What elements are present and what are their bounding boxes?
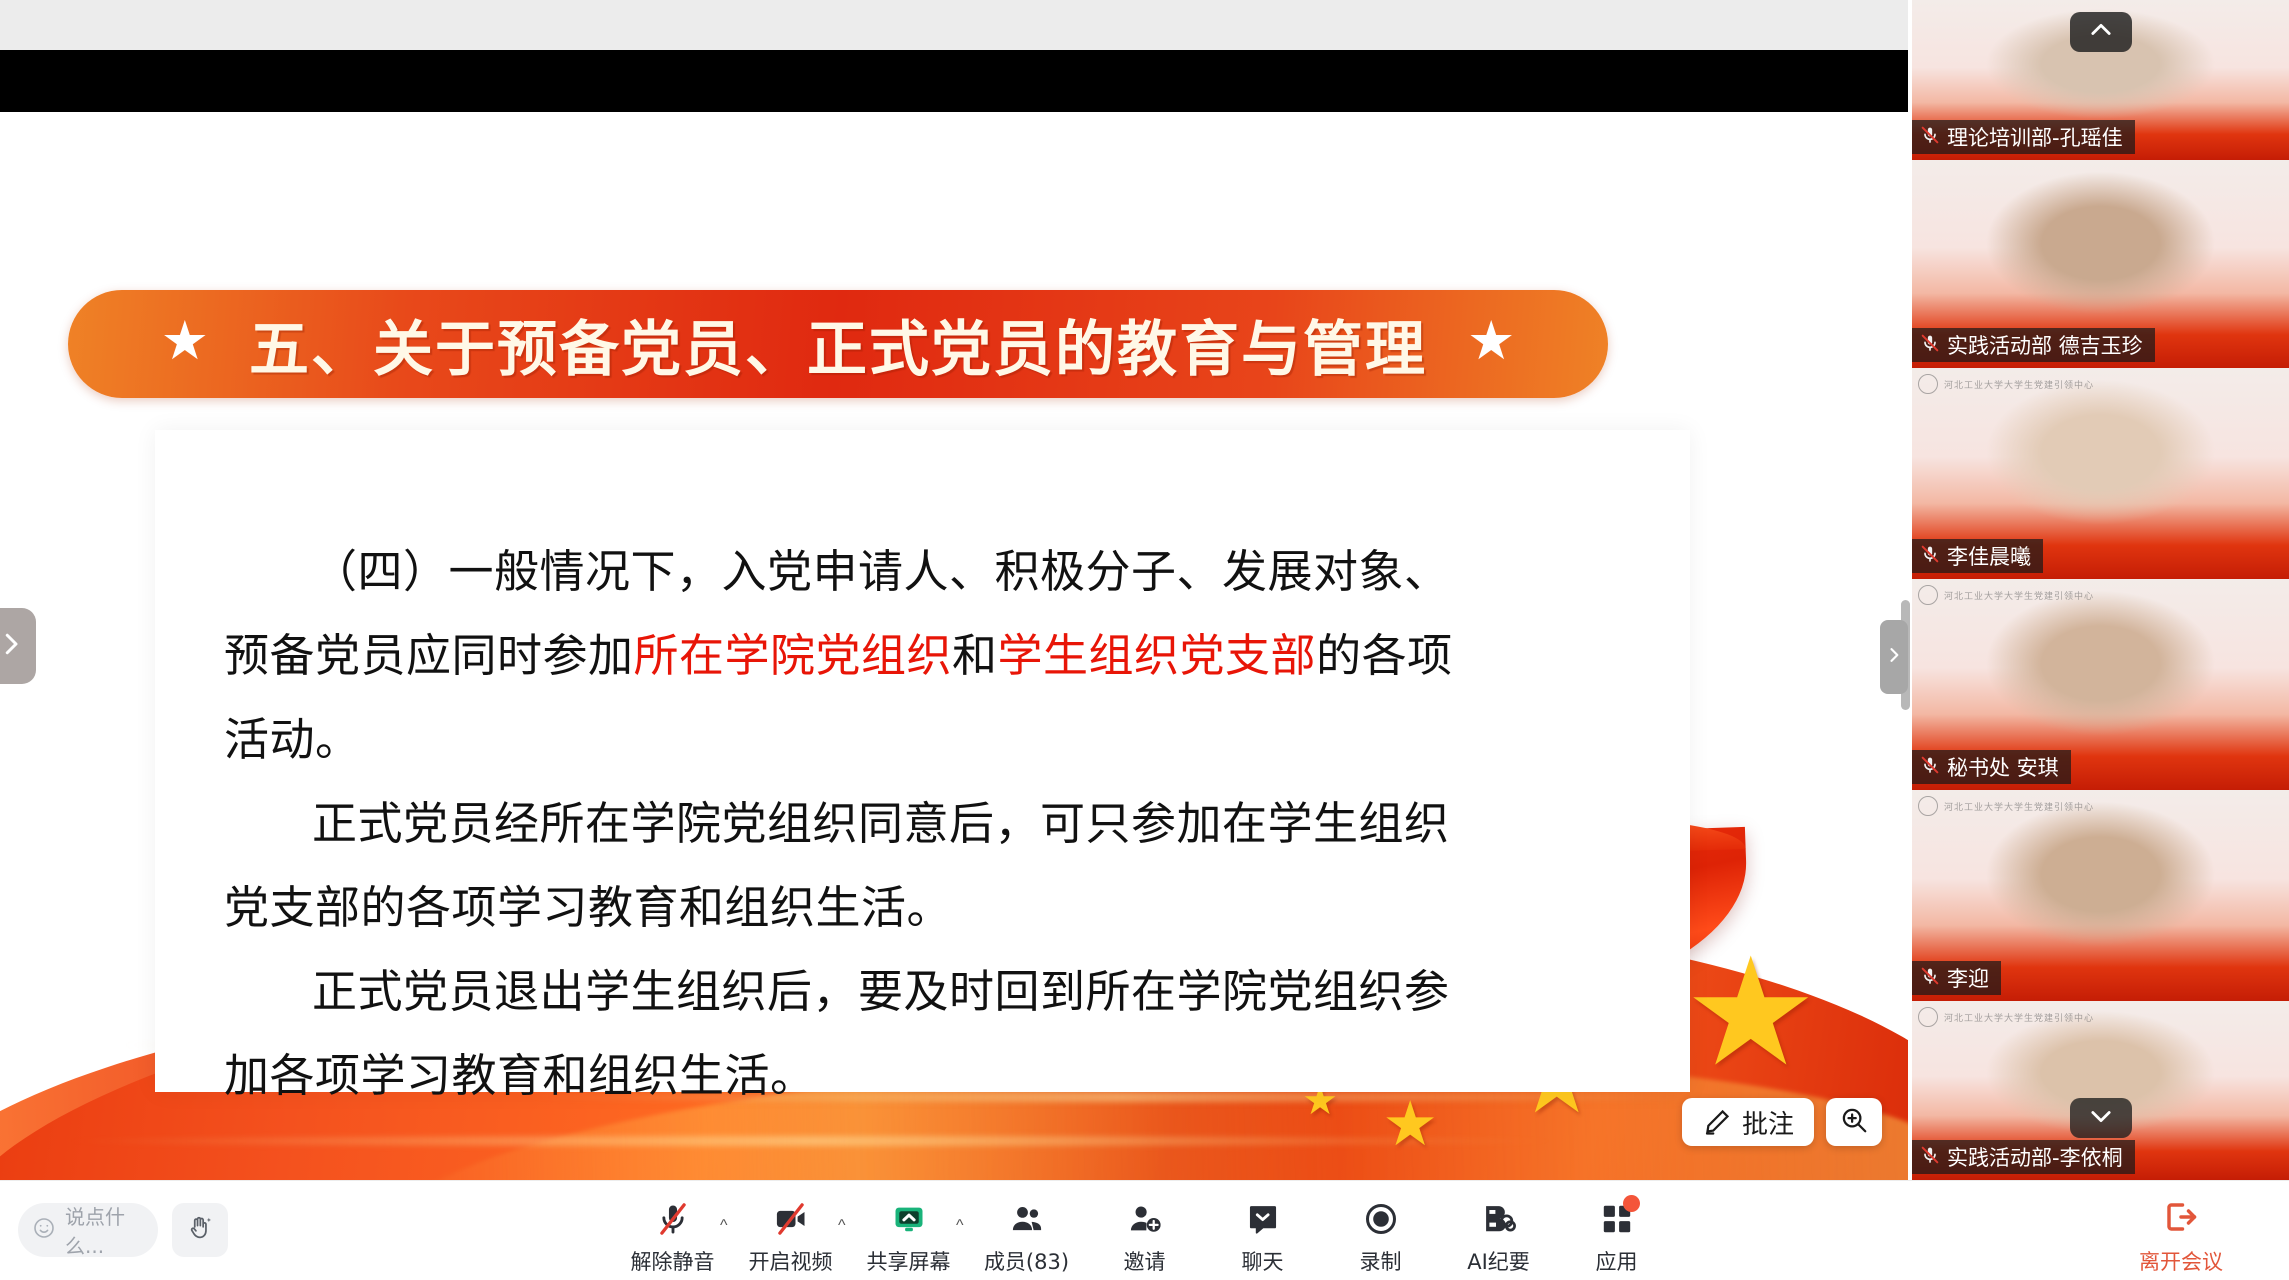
chevron-down-icon — [2087, 1102, 2115, 1135]
chevron-up-icon[interactable]: ^ — [720, 1217, 728, 1235]
scroll-participants-up-button[interactable] — [2070, 12, 2132, 52]
toolbar-button-label: 聊天 — [1242, 1246, 1284, 1276]
participant-video-tile[interactable]: 河北工业大学大学生党建引领中心 实践活动部-李依桐 — [1912, 1001, 2289, 1180]
participant-name-chip: 李佳晨曦 — [1912, 539, 2043, 573]
participant-name-chip: 李迎 — [1912, 961, 2001, 995]
leave-meeting-label: 离开会议 — [2139, 1246, 2223, 1276]
leave-meeting-icon — [2163, 1199, 2199, 1240]
participant-video-tile[interactable]: 实践活动部 德吉玉珍 — [1912, 160, 2289, 368]
mic-off-icon — [1920, 966, 1940, 991]
highlighted-term: 所在学院党组织 — [634, 629, 953, 682]
toolbar-button-label: 录制 — [1360, 1246, 1402, 1276]
org-watermark-text: 河北工业大学大学生党建引领中心 — [1944, 1011, 2094, 1024]
slide-paragraph: 正式党员退出学生组织后，要及时回到所在学院党组织参加各项学习教育和组织生活。 — [224, 950, 1494, 1118]
participant-name: 实践活动部 德吉玉珍 — [1947, 330, 2143, 360]
seal-icon — [1918, 1007, 1938, 1027]
highlighted-term: 学生组织党支部 — [998, 629, 1317, 682]
smiley-icon[interactable] — [32, 1216, 56, 1245]
banner-star-right-icon: ★ — [1467, 314, 1515, 368]
banner-star-left-icon: ★ — [161, 314, 209, 368]
org-watermark-text: 河北工业大学大学生党建引领中心 — [1944, 589, 2094, 602]
seal-icon — [1918, 796, 1938, 816]
toolbar-button-mic-off[interactable]: 解除静音^ — [614, 1193, 732, 1276]
toolbar-button-label: 应用 — [1596, 1246, 1638, 1276]
toolbar-button-label: 成员(83) — [984, 1246, 1069, 1276]
chevron-up-icon — [2087, 16, 2115, 49]
chat-icon — [1245, 1199, 1281, 1239]
org-watermark: 河北工业大学大学生党建引领中心 — [1918, 374, 2094, 394]
record-icon — [1363, 1199, 1399, 1239]
participant-name-chip: 秘书处 安琪 — [1912, 750, 2071, 784]
chevron-up-icon[interactable]: ^ — [956, 1217, 964, 1235]
paragraph-text: 正式党员退出学生组织后，要及时回到所在学院党组织参加各项学习教育和组织生活。 — [224, 965, 1450, 1102]
slide-paragraph: 正式党员经所在学院党组织同意后，可只参加在学生组织党支部的各项学习教育和组织生活… — [224, 782, 1494, 950]
participant-name: 李迎 — [1947, 963, 1989, 993]
meeting-window: ☭ ★ ★ ★ ★ ★ ★ 五、关于预备党员、正式党员的教育与管理 ★ （四）一… — [0, 0, 2289, 1280]
chat-input-placeholder: 说点什么... — [65, 1201, 158, 1259]
participant-name-chip: 理论培训部-孔瑶佳 — [1912, 120, 2135, 154]
page-title: 五、关于预备党员、正式党员的教育与管理 — [249, 301, 1427, 388]
participant-video-tile[interactable]: 河北工业大学大学生党建引领中心 李迎 — [1912, 790, 2289, 1001]
toolbar-button-camera-off[interactable]: 开启视频^ — [732, 1193, 850, 1276]
participant-name: 秘书处 安琪 — [1947, 752, 2059, 782]
mic-off-icon — [1920, 544, 1940, 569]
participant-name: 实践活动部-李依桐 — [1947, 1142, 2123, 1172]
chat-input[interactable]: 说点什么... — [18, 1203, 158, 1257]
toolbar-button-label: 解除静音 — [631, 1246, 715, 1276]
mic-off-icon — [655, 1199, 691, 1239]
pencil-icon — [1702, 1107, 1732, 1137]
magnifier-plus-icon — [1839, 1105, 1869, 1140]
raise-hand-button[interactable] — [172, 1203, 228, 1257]
chevron-right-icon — [1884, 645, 1904, 670]
toolbar-button-participants[interactable]: 成员(83) — [968, 1193, 1086, 1276]
seal-icon — [1918, 374, 1938, 394]
annotate-label: 批注 — [1742, 1104, 1794, 1141]
camera-off-icon — [773, 1199, 809, 1239]
toolbar-left-group: 说点什么... — [18, 1203, 228, 1257]
toolbar-button-invite-user[interactable]: 邀请 — [1086, 1193, 1204, 1276]
annotate-button[interactable]: 批注 — [1682, 1098, 1814, 1146]
participant-name: 理论培训部-孔瑶佳 — [1947, 122, 2123, 152]
notification-badge — [1623, 1195, 1640, 1212]
leave-meeting-button[interactable]: 离开会议 — [2119, 1199, 2243, 1276]
mic-off-icon — [1920, 755, 1940, 780]
ai-notes-icon — [1481, 1199, 1517, 1239]
toolbar-button-label: AI纪要 — [1467, 1246, 1530, 1276]
mic-off-icon — [1920, 1145, 1940, 1170]
toolbar-button-apps-grid[interactable]: 应用 — [1558, 1193, 1676, 1276]
invite-user-icon — [1127, 1199, 1163, 1239]
shared-slide-stage[interactable]: ☭ ★ ★ ★ ★ ★ ★ 五、关于预备党员、正式党员的教育与管理 ★ （四）一… — [0, 112, 1908, 1180]
toolbar-button-chat[interactable]: 聊天 — [1204, 1193, 1322, 1276]
paragraph-text: 正式党员经所在学院党组织同意后，可只参加在学生组织党支部的各项学习教育和组织生活… — [224, 797, 1450, 934]
slide-annotation-controls: 批注 — [1682, 1098, 1882, 1146]
participant-name-chip: 实践活动部-李依桐 — [1912, 1140, 2135, 1174]
toolbar-main-actions: 解除静音^ 开启视频^ 共享屏幕^ 成员(83) 邀请 聊天 录制 AI纪要 应… — [614, 1193, 1676, 1276]
org-watermark: 河北工业大学大学生党建引领中心 — [1918, 585, 2094, 605]
meeting-toolbar: 说点什么... 解除静音^ 开启视频^ 共享屏幕^ 成员 — [0, 1180, 2289, 1280]
participants-icon — [1009, 1199, 1045, 1239]
toolbar-button-label: 开启视频 — [749, 1246, 833, 1276]
toolbar-button-share-screen[interactable]: 共享屏幕^ — [850, 1193, 968, 1276]
toolbar-button-record[interactable]: 录制 — [1322, 1193, 1440, 1276]
toolbar-button-ai-notes[interactable]: AI纪要 — [1440, 1193, 1558, 1276]
org-watermark-text: 河北工业大学大学生党建引领中心 — [1944, 800, 2094, 813]
scroll-participants-down-button[interactable] — [2070, 1098, 2132, 1138]
org-watermark-text: 河北工业大学大学生党建引领中心 — [1944, 378, 2094, 391]
participant-video-tile[interactable]: 河北工业大学大学生党建引领中心 秘书处 安琪 — [1912, 579, 2289, 790]
mic-off-icon — [1920, 125, 1940, 150]
share-screen-icon — [891, 1199, 927, 1239]
window-top-strip — [0, 0, 1908, 50]
shared-screen-letterbox — [0, 50, 1908, 112]
raise-hand-icon — [186, 1214, 214, 1247]
toolbar-button-label: 共享屏幕 — [867, 1246, 951, 1276]
slide-title-banner: ★ 五、关于预备党员、正式党员的教育与管理 ★ — [68, 290, 1608, 398]
slide-body-text: （四）一般情况下，入党申请人、积极分子、发展对象、预备党员应同时参加所在学院党组… — [224, 530, 1494, 1118]
participant-video-strip[interactable]: 理论培训部-孔瑶佳 实践活动部 德吉玉珍河北工业大学大学生党建引领中心 李佳晨曦… — [1912, 0, 2289, 1180]
previous-slide-button[interactable] — [0, 608, 36, 684]
paragraph-text: 和 — [952, 629, 998, 682]
participant-name: 李佳晨曦 — [1947, 541, 2031, 571]
org-watermark: 河北工业大学大学生党建引领中心 — [1918, 1007, 2094, 1027]
slide-paragraph: （四）一般情况下，入党申请人、积极分子、发展对象、预备党员应同时参加所在学院党组… — [224, 530, 1494, 782]
participant-name-chip: 实践活动部 德吉玉珍 — [1912, 328, 2155, 362]
participant-video-tile[interactable]: 河北工业大学大学生党建引领中心 李佳晨曦 — [1912, 368, 2289, 579]
chevron-up-icon[interactable]: ^ — [838, 1217, 846, 1235]
gold-star-large-icon: ★ — [1684, 926, 1818, 1100]
toolbar-button-label: 邀请 — [1124, 1246, 1166, 1276]
chevron-right-icon — [0, 629, 26, 664]
mic-off-icon — [1920, 333, 1940, 358]
org-watermark: 河北工业大学大学生党建引领中心 — [1918, 796, 2094, 816]
zoom-in-button[interactable] — [1826, 1098, 1882, 1146]
collapse-video-panel-button[interactable] — [1880, 620, 1908, 694]
seal-icon — [1918, 585, 1938, 605]
